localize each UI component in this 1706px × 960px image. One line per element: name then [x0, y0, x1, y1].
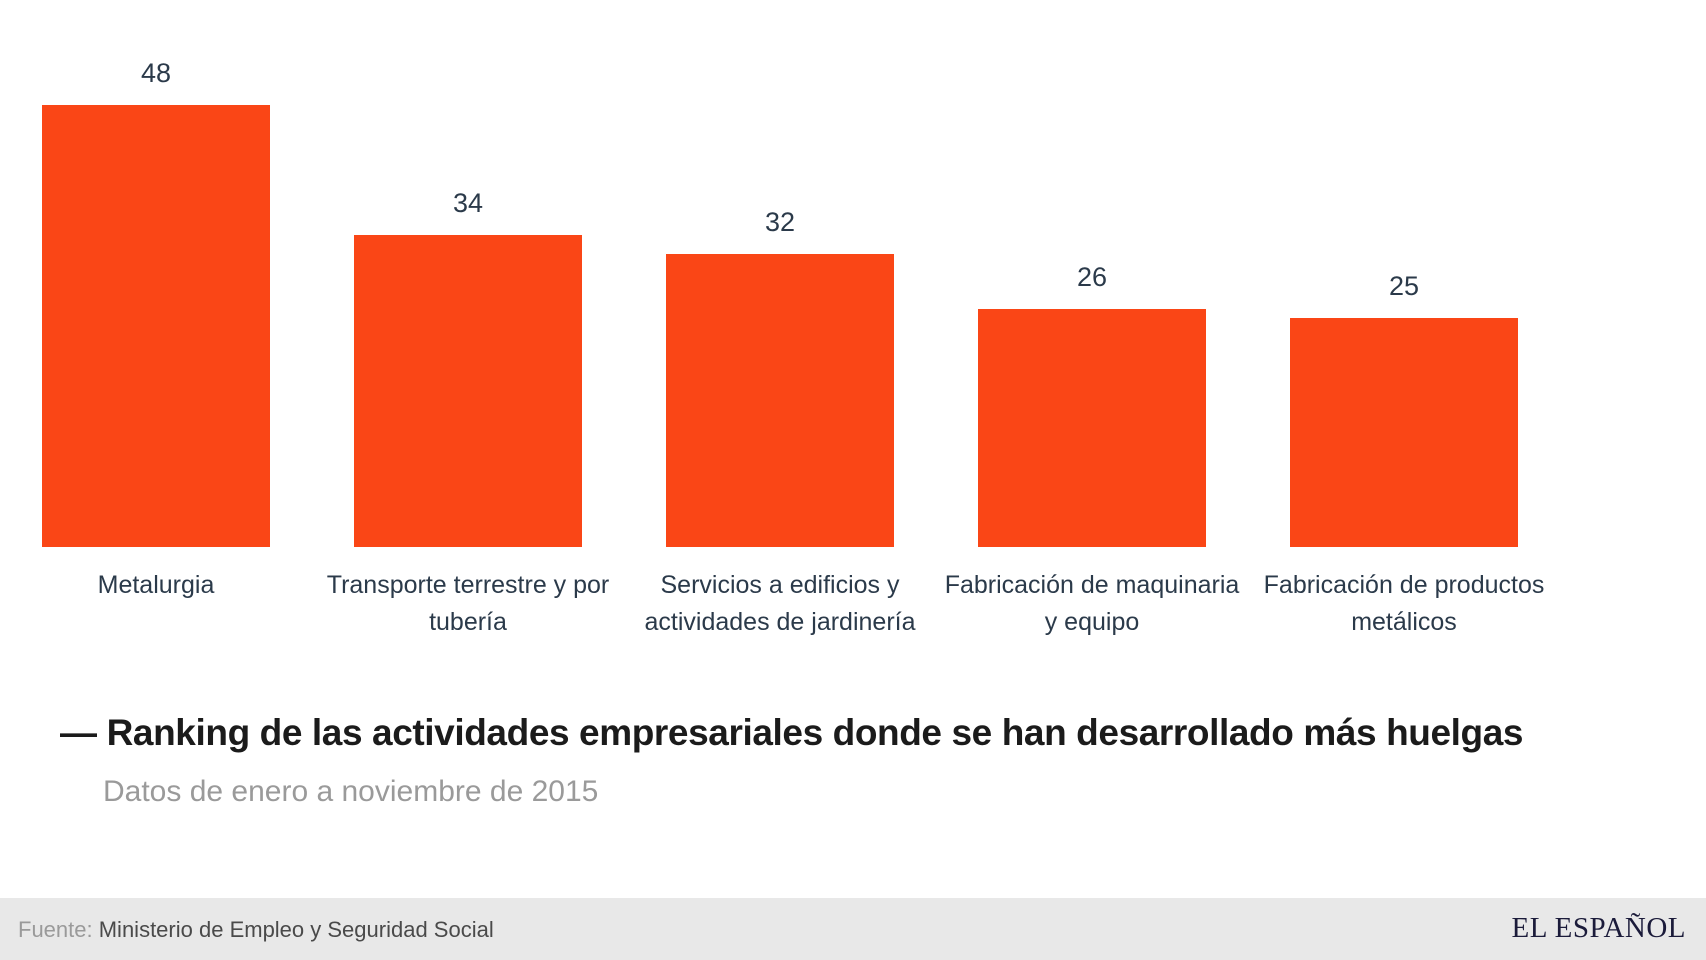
bar-group: 32 Servicios a edificios y actividades d… [624, 0, 936, 700]
bar-value-label: 48 [0, 60, 312, 87]
bar-chart: 48 Metalurgia 34 Transporte terrestre y … [0, 0, 1706, 700]
chart-title-text: Ranking de las actividades empresariales… [107, 712, 1523, 753]
bar-rect[interactable] [354, 235, 582, 547]
bar-category-label: Servicios a edificios y actividades de j… [632, 567, 928, 641]
bar-group: 48 Metalurgia [0, 0, 312, 700]
footer-bar: Fuente: Ministerio de Empleo y Seguridad… [0, 898, 1706, 960]
chart-subtitle: Datos de enero a noviembre de 2015 [103, 775, 598, 809]
bar-group: 25 Fabricación de productos metálicos [1248, 0, 1560, 700]
chart-title: —Ranking de las actividades empresariale… [60, 712, 1523, 754]
bar-rect[interactable] [978, 309, 1206, 547]
bar-category-label: Metalurgia [8, 567, 304, 604]
title-dash-icon: — [60, 712, 97, 754]
bar-rect[interactable] [1290, 318, 1518, 547]
bar-category-label: Transporte terrestre y por tubería [320, 567, 616, 641]
bar-value-label: 26 [936, 264, 1248, 291]
source-note: Fuente: Ministerio de Empleo y Seguridad… [18, 917, 494, 943]
bar-category-label: Fabricación de maquinaria y equipo [944, 567, 1240, 641]
bar-category-label: Fabricación de productos metálicos [1256, 567, 1552, 641]
bar-group: 26 Fabricación de maquinaria y equipo [936, 0, 1248, 700]
bar-group: 34 Transporte terrestre y por tubería [312, 0, 624, 700]
bar-value-label: 34 [312, 190, 624, 217]
bar-value-label: 25 [1248, 273, 1560, 300]
bar-value-label: 32 [624, 209, 936, 236]
el-espanol-logo: EL ESPAÑOL [1512, 912, 1686, 945]
source-label: Fuente: [18, 917, 93, 942]
source-value: Ministerio de Empleo y Seguridad Social [99, 917, 494, 942]
bar-rect[interactable] [42, 105, 270, 547]
bar-rect[interactable] [666, 254, 894, 547]
